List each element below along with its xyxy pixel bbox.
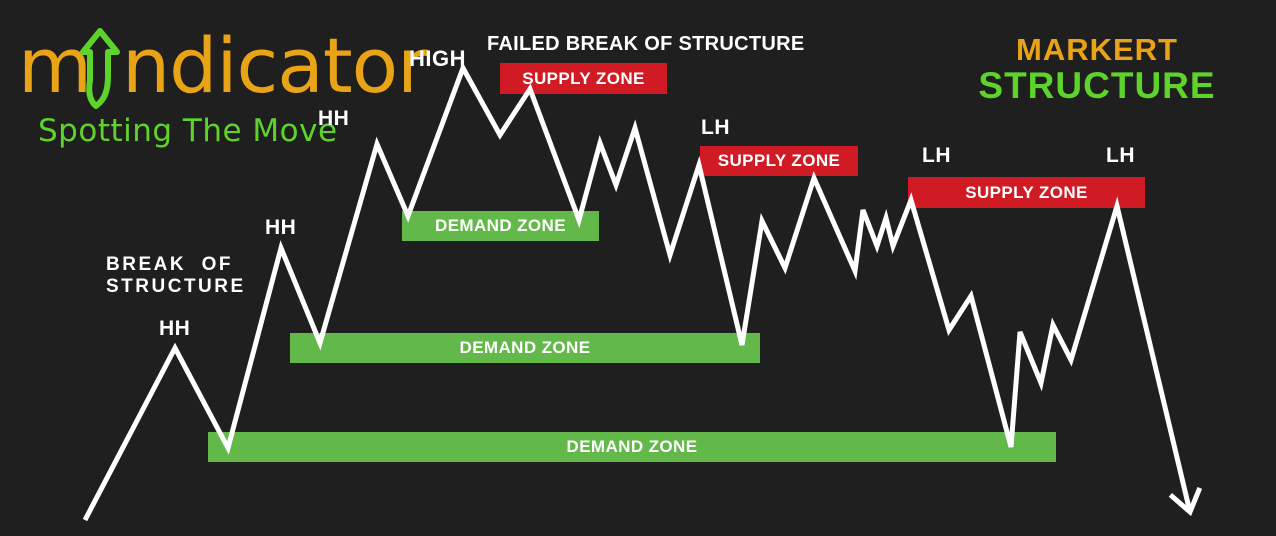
logo-letters-ndicator: ndicator [122, 28, 427, 104]
demand-zone-3: DEMAND ZONE [208, 432, 1056, 462]
title-line-1: MARKERT [932, 34, 1262, 67]
supply-zone-1: SUPPLY ZONE [500, 63, 667, 94]
label-failed-break-of-structure: FAILED BREAK OF STRUCTURE [487, 33, 805, 56]
supply-zone-2: SUPPLY ZONE [700, 146, 858, 176]
page-title: MARKERT STRUCTURE [932, 34, 1262, 105]
label-lh-1: LH [701, 116, 730, 140]
label-hh-3: HH [318, 107, 349, 131]
demand-zone-1: DEMAND ZONE [402, 211, 599, 241]
label-lh-2: LH [922, 144, 951, 168]
label-lh-3: LH [1106, 144, 1135, 168]
logo-tagline: Spotting The Move [38, 113, 338, 149]
label-break-of-structure: BREAK OF STRUCTURE [106, 254, 246, 299]
chart-canvas: m ndicator Spotting The Move MARKERT STR… [0, 0, 1276, 536]
up-arrow-icon [76, 28, 124, 110]
brand-logo: m ndicator Spotting The Move [14, 10, 364, 140]
demand-zone-2: DEMAND ZONE [290, 333, 760, 363]
label-hh-2: HH [265, 216, 296, 240]
label-high: HIGH [409, 46, 466, 72]
supply-zone-3: SUPPLY ZONE [908, 177, 1145, 208]
title-line-2: STRUCTURE [932, 67, 1262, 106]
label-hh-1: HH [159, 317, 190, 341]
